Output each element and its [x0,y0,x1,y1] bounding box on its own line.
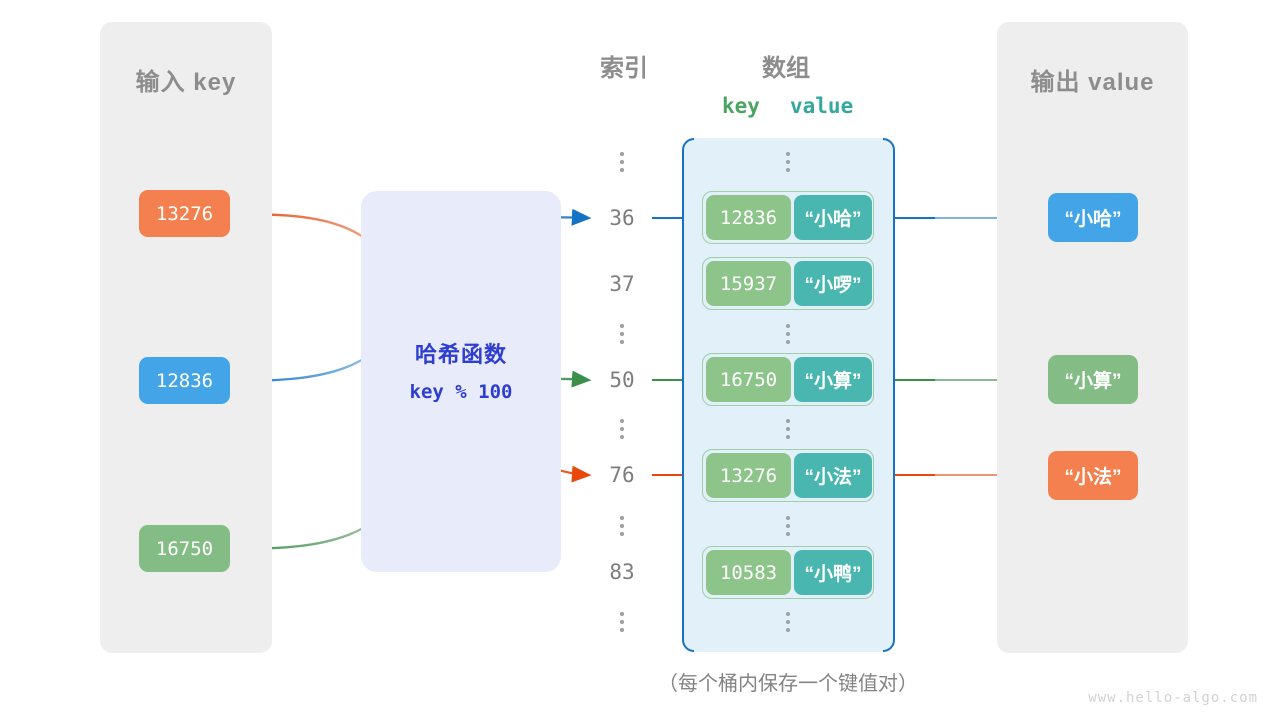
index-ellipsis-icon [620,152,624,156]
diagram-canvas: 输入 key 13276 12836 16750 哈希函数 key % 100 … [0,0,1280,720]
bucket-value-cell: “小算” [794,357,872,402]
output-value-label: “小哈” [1064,204,1121,231]
index-label-36: 36 [592,206,652,230]
bucket-value-cell: “小鸭” [794,550,872,595]
output-panel-title: 输出 value [997,62,1188,97]
hash-function-box: 哈希函数 key % 100 [361,191,561,572]
index-label-83: 83 [592,560,652,584]
bucket-key-cell: 13276 [706,453,791,498]
bucket-key-cell: 16750 [706,357,791,402]
array-ellipsis-icon [786,516,790,520]
site-watermark: www.hello-algo.com [1088,690,1258,706]
input-key-label: 13276 [156,203,213,225]
diagram-caption: （每个桶内保存一个键值对） [588,667,988,696]
array-ellipsis-icon [786,612,790,616]
output-value-chip-2[interactable]: “小法” [1048,451,1138,500]
value-column-header: value [790,94,853,118]
array-bracket-left [682,138,694,652]
output-value-label: “小算” [1064,366,1121,393]
input-panel-title: 输入 key [100,62,272,97]
array-ellipsis-icon [786,324,790,328]
bucket-value-cell: “小啰” [794,261,872,306]
input-key-chip-1[interactable]: 12836 [139,357,230,404]
output-value-chip-0[interactable]: “小哈” [1048,193,1138,242]
index-label-76: 76 [592,463,652,487]
index-ellipsis-icon [620,419,624,423]
bucket-value-cell: “小哈” [794,195,872,240]
index-ellipsis-icon [620,516,624,520]
index-ellipsis-icon [620,612,624,616]
array-column-title: 数组 [728,48,844,83]
index-label-37: 37 [592,272,652,296]
hash-function-formula: key % 100 [361,381,561,403]
output-value-panel: 输出 value [997,22,1188,653]
index-label-50: 50 [592,368,652,392]
input-key-label: 16750 [156,538,213,560]
bucket-row[interactable]: 10583 “小鸭” [702,546,874,599]
index-column-title: 索引 [566,48,682,83]
output-value-label: “小法” [1064,462,1121,489]
bucket-row[interactable]: 16750 “小算” [702,353,874,406]
hash-function-title: 哈希函数 [361,337,561,369]
index-ellipsis-icon [620,324,624,328]
input-key-chip-0[interactable]: 13276 [139,190,230,237]
array-bracket-right [883,138,895,652]
bucket-row[interactable]: 12836 “小哈” [702,191,874,244]
array-ellipsis-icon [786,419,790,423]
bucket-key-cell: 15937 [706,261,791,306]
bucket-key-cell: 10583 [706,550,791,595]
bucket-key-cell: 12836 [706,195,791,240]
input-key-chip-2[interactable]: 16750 [139,525,230,572]
key-column-header: key [722,94,760,118]
input-key-label: 12836 [156,370,213,392]
array-ellipsis-icon [786,152,790,156]
bucket-value-cell: “小法” [794,453,872,498]
output-value-chip-1[interactable]: “小算” [1048,355,1138,404]
bucket-row[interactable]: 13276 “小法” [702,449,874,502]
bucket-row[interactable]: 15937 “小啰” [702,257,874,310]
